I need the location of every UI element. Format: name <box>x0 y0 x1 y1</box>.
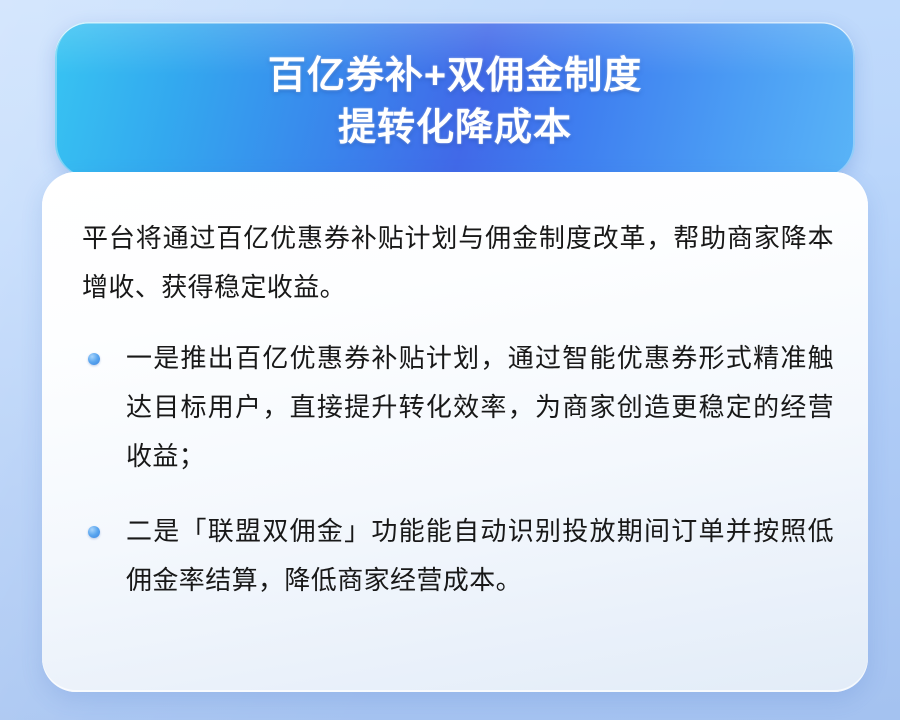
content-card: 平台将通过百亿优惠券补贴计划与佣金制度改革，帮助商家降本增收、获得稳定收益。 一… <box>42 172 868 692</box>
list-item: 二是「联盟双佣金」功能能自动识别投放期间订单并按照低佣金率结算，降低商家经营成本… <box>82 507 834 605</box>
content-body: 平台将通过百亿优惠券补贴计划与佣金制度改革，帮助商家降本增收、获得稳定收益。 一… <box>82 214 834 605</box>
intro-paragraph: 平台将通过百亿优惠券补贴计划与佣金制度改革，帮助商家降本增收、获得稳定收益。 <box>82 214 834 312</box>
header-title-group: 百亿券补+双佣金制度 提转化降成本 <box>55 50 855 154</box>
list-item-text: 二是「联盟双佣金」功能能自动识别投放期间订单并按照低佣金率结算，降低商家经营成本… <box>126 507 834 605</box>
bullet-dot-icon <box>88 526 100 538</box>
list-item: 一是推出百亿优惠券补贴计划，通过智能优惠券形式精准触达目标用户，直接提升转化效率… <box>82 334 834 481</box>
header-title-line-1: 百亿券补+双佣金制度 <box>55 50 855 102</box>
poster-page: 百亿券补+双佣金制度 提转化降成本 平台将通过百亿优惠券补贴计划与佣金制度改革，… <box>0 0 900 720</box>
list-item-text: 一是推出百亿优惠券补贴计划，通过智能优惠券形式精准触达目标用户，直接提升转化效率… <box>126 334 834 481</box>
bullet-list: 一是推出百亿优惠券补贴计划，通过智能优惠券形式精准触达目标用户，直接提升转化效率… <box>82 334 834 605</box>
bullet-dot-icon <box>88 353 100 365</box>
header-banner: 百亿券补+双佣金制度 提转化降成本 <box>55 22 855 177</box>
header-title-line-2: 提转化降成本 <box>55 102 855 154</box>
